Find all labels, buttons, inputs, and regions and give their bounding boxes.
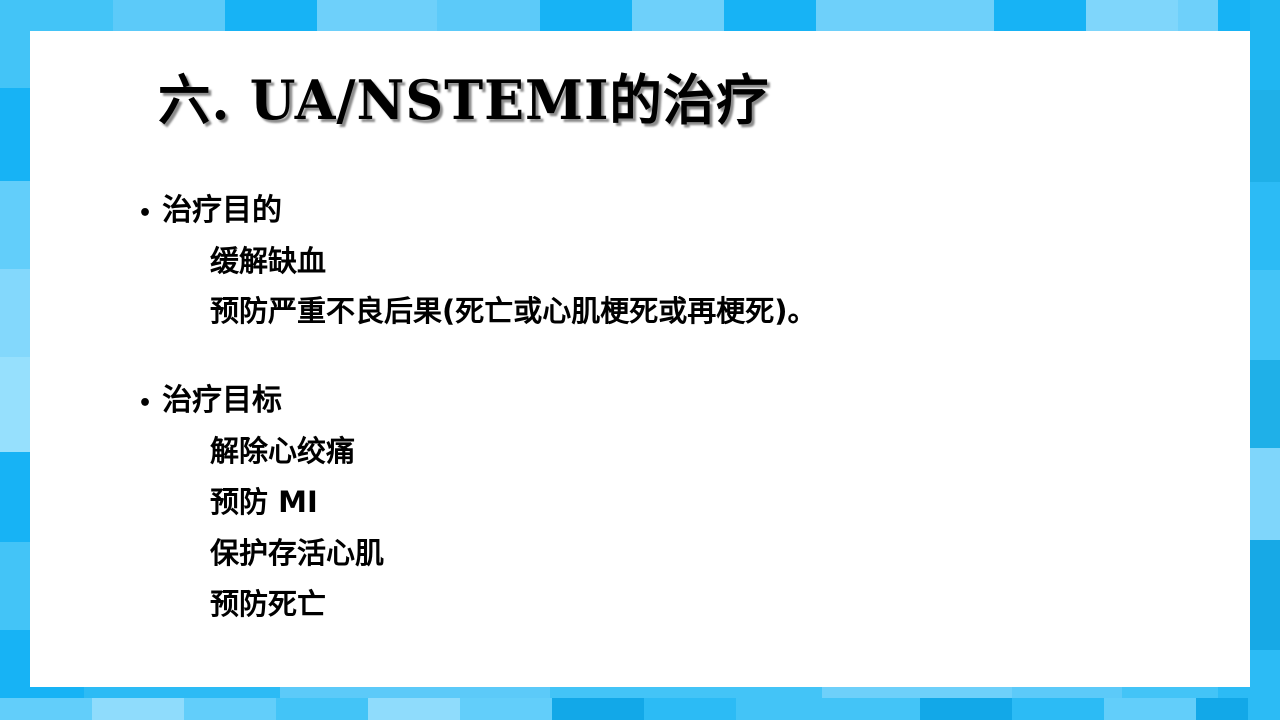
bullet-subitem: 预防 MI	[210, 488, 384, 517]
bullet-subitem: 解除心绞痛	[210, 437, 384, 466]
bullet-heading-label: 治疗目标	[162, 386, 282, 416]
bullet-heading: • 治疗目的	[138, 196, 817, 226]
bullet-heading-label: 治疗目的	[162, 196, 282, 226]
slide-body: • 治疗目的 缓解缺血 预防严重不良后果(死亡或心肌梗死或再梗死)。 • 治疗目…	[0, 0, 1280, 720]
bullet-subitem: 保护存活心肌	[210, 539, 384, 568]
bullet-dot-icon: •	[138, 393, 152, 415]
bullet-group-treatment-purpose: • 治疗目的 缓解缺血 预防严重不良后果(死亡或心肌梗死或再梗死)。	[138, 196, 817, 326]
bullet-subitem: 缓解缺血	[210, 247, 817, 276]
presentation-slide: 六. UA/NSTEMI的治疗 • 治疗目的 缓解缺血 预防严重不良后果(死亡或…	[0, 0, 1280, 720]
bullet-subitem: 预防死亡	[210, 590, 384, 619]
bullet-subitem: 预防严重不良后果(死亡或心肌梗死或再梗死)。	[210, 297, 817, 326]
bullet-group-treatment-goal: • 治疗目标 解除心绞痛 预防 MI 保护存活心肌 预防死亡	[138, 386, 384, 619]
bullet-dot-icon: •	[138, 203, 152, 225]
bullet-heading: • 治疗目标	[138, 386, 384, 416]
